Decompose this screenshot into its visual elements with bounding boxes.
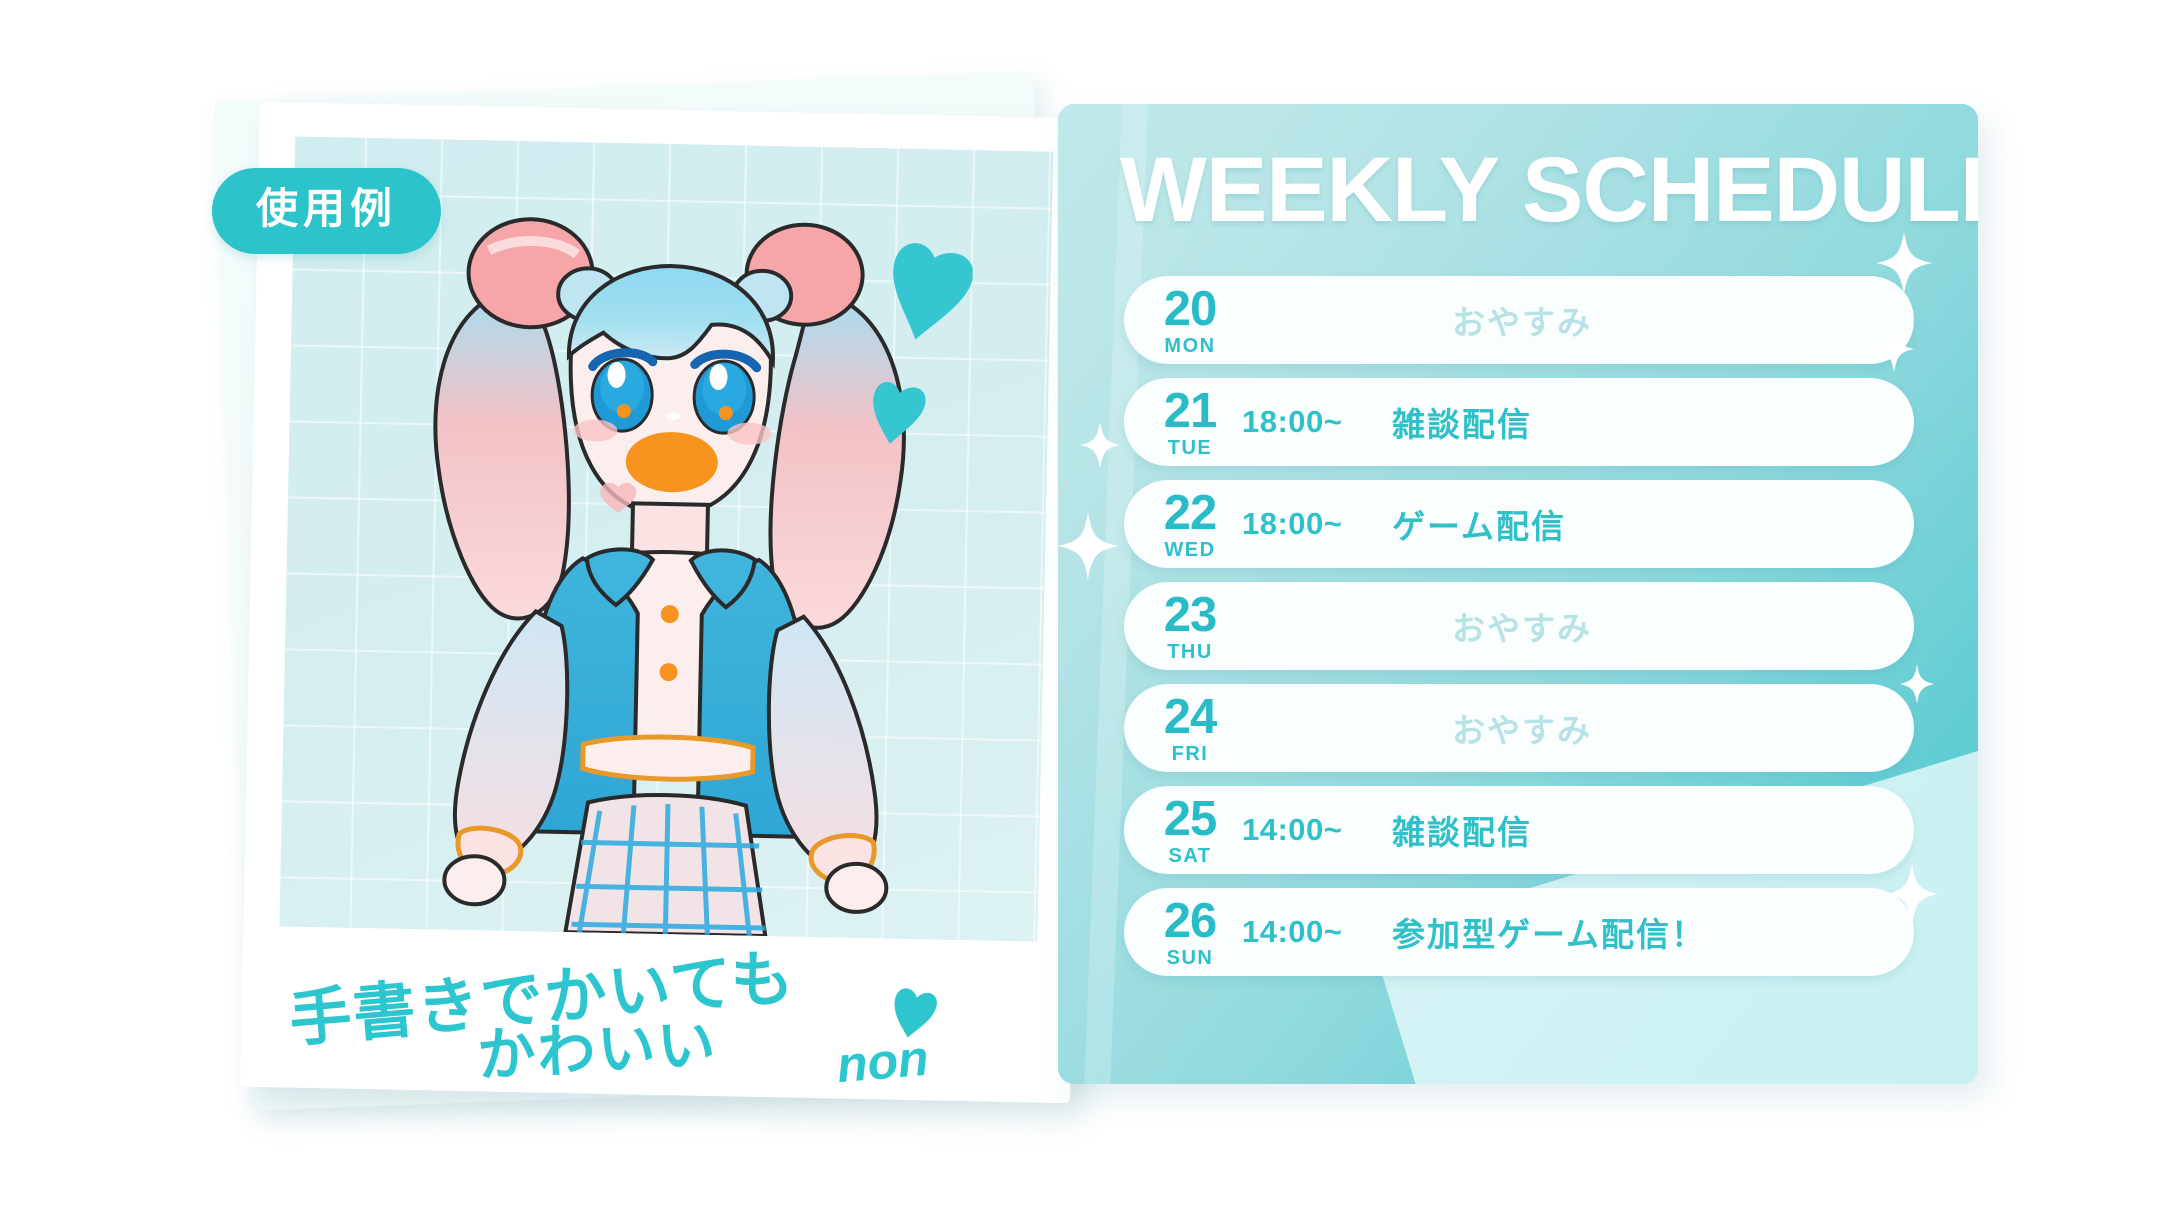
event-title: 雑談配信: [1392, 398, 1532, 446]
day-box: 21 TUE: [1124, 387, 1242, 458]
day-number: 20: [1138, 285, 1242, 334]
day-weekday: THU: [1138, 642, 1242, 662]
sparkle-icon: [1080, 422, 1120, 468]
day-weekday: TUE: [1138, 438, 1242, 458]
schedule-panel: WEEKLY SCHEDULE! 20 MON おやすみ 21 TUE 18:0…: [1058, 104, 1978, 1084]
day-number: 22: [1138, 489, 1242, 538]
event-title: おやすみ: [1452, 602, 1592, 650]
schedule-list: 20 MON おやすみ 21 TUE 18:00~ 雑談配信 22 WED: [1124, 276, 1914, 990]
sparkle-icon: [1876, 232, 1932, 294]
page-title: WEEKLY SCHEDULE!: [1120, 144, 1920, 236]
event-time: 18:00~: [1242, 404, 1392, 440]
day-box: 23 THU: [1124, 591, 1242, 662]
event-time: 18:00~: [1242, 506, 1392, 542]
handwriting-block: 手書きでかいても かわいい non: [277, 934, 1037, 1069]
sparkle-icon: [1874, 326, 1914, 372]
event-title: おやすみ: [1452, 704, 1592, 752]
event-title: 雑談配信: [1392, 806, 1532, 854]
day-weekday: SAT: [1138, 846, 1242, 866]
sparkle-icon: [1058, 512, 1118, 580]
day-number: 23: [1138, 591, 1242, 640]
day-box: 20 MON: [1124, 285, 1242, 356]
schedule-row[interactable]: 26 SUN 14:00~ 参加型ゲーム配信！: [1124, 888, 1914, 976]
sparkle-icon: [1900, 664, 1934, 704]
event-time: 14:00~: [1242, 914, 1392, 950]
sparkle-icon: [1886, 864, 1938, 924]
day-weekday: SUN: [1138, 948, 1242, 968]
handwriting-line-2: かわいい: [475, 997, 719, 1093]
event-time: 14:00~: [1242, 812, 1392, 848]
handwriting-signature: non: [835, 1029, 931, 1095]
day-box: 22 WED: [1124, 489, 1242, 560]
day-number: 21: [1138, 387, 1242, 436]
schedule-row[interactable]: 23 THU おやすみ: [1124, 582, 1914, 670]
usage-example-badge: 使用例: [212, 168, 441, 254]
day-weekday: WED: [1138, 540, 1242, 560]
day-weekday: MON: [1138, 336, 1242, 356]
day-box: 24 FRI: [1124, 693, 1242, 764]
day-box: 25 SAT: [1124, 795, 1242, 866]
schedule-row[interactable]: 20 MON おやすみ: [1124, 276, 1914, 364]
schedule-row[interactable]: 25 SAT 14:00~ 雑談配信: [1124, 786, 1914, 874]
day-number: 24: [1138, 693, 1242, 742]
heart-large-icon: [883, 240, 973, 346]
photo-image-area: [279, 136, 1053, 941]
event-title: ゲーム配信: [1392, 500, 1566, 548]
schedule-row[interactable]: 22 WED 18:00~ ゲーム配信: [1124, 480, 1914, 568]
heart-small-icon: [867, 380, 926, 447]
schedule-row[interactable]: 21 TUE 18:00~ 雑談配信: [1124, 378, 1914, 466]
event-title: おやすみ: [1452, 296, 1592, 344]
event-title: 参加型ゲーム配信！: [1392, 908, 1706, 956]
day-number: 26: [1138, 897, 1242, 946]
day-number: 25: [1138, 795, 1242, 844]
schedule-row[interactable]: 24 FRI おやすみ: [1124, 684, 1914, 772]
day-box: 26 SUN: [1124, 897, 1242, 968]
day-weekday: FRI: [1138, 744, 1242, 764]
schedule-graphic: 手書きでかいても かわいい non 使用例 WEEKLY SCHEDULE! 2…: [0, 0, 2184, 1229]
